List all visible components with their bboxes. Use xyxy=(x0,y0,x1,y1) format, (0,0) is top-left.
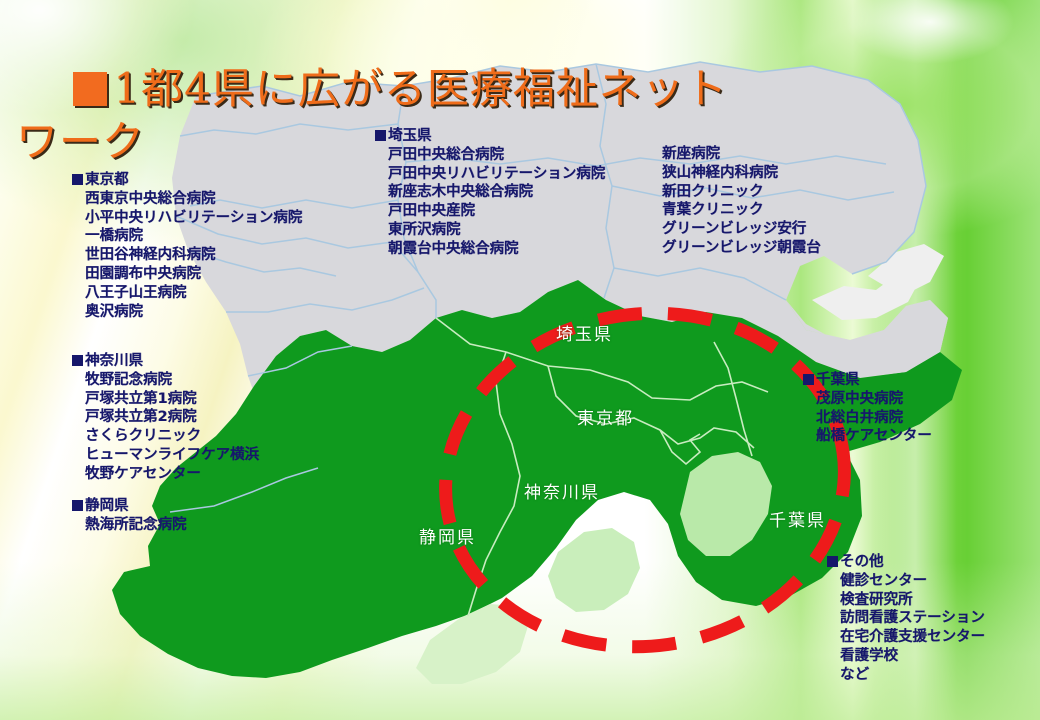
facility-list-other: その他健診センター検査研究所訪問看護ステーション在宅介護支援センター看護学校など xyxy=(827,553,985,685)
map-sagami-bay xyxy=(548,528,640,612)
list-item: 訪問看護ステーション xyxy=(840,609,985,628)
list-item: 牧野ケアセンター xyxy=(85,465,259,484)
list-item: 戸田中央総合病院 xyxy=(388,146,605,165)
list-item: 奥沢病院 xyxy=(85,303,302,322)
bullet-square-icon xyxy=(72,500,83,511)
list-item: 看護学校 xyxy=(840,647,985,666)
list-item: 小平中央リハビリテーション病院 xyxy=(85,209,302,228)
bullet-square-icon xyxy=(72,174,83,185)
list-item: など xyxy=(840,666,985,685)
title-text-line1: 1都4県に広がる医療福祉ネット xyxy=(113,64,727,113)
list-item: グリーンビレッジ安行 xyxy=(662,220,821,239)
list-item: ヒューマンライフケア横浜 xyxy=(85,446,259,465)
map-label-tokyo: 東京都 xyxy=(577,404,634,429)
list-item: 北総白井病院 xyxy=(816,409,932,428)
facility-list-saitama-column2: 新座病院狭山神経内科病院新田クリニック青葉クリニックグリーンビレッジ安行グリーン… xyxy=(662,145,821,258)
map-label-chiba: 千葉県 xyxy=(769,506,826,531)
list-heading-label: 埼玉県 xyxy=(388,128,432,144)
map-label-shizuoka: 静岡県 xyxy=(419,523,476,548)
list-item: 戸田中央リハビリテーション病院 xyxy=(388,165,605,184)
list-item: さくらクリニック xyxy=(85,427,259,446)
list-item: 西東京中央総合病院 xyxy=(85,190,302,209)
list-item: 東所沢病院 xyxy=(388,221,605,240)
list-item: 朝霞台中央総合病院 xyxy=(388,240,605,259)
bullet-square-icon xyxy=(72,355,83,366)
list-heading-label: 静岡県 xyxy=(85,498,129,514)
list-item: グリーンビレッジ朝霞台 xyxy=(662,239,821,258)
list-heading: 埼玉県 xyxy=(375,127,605,146)
map-label-saitama: 埼玉県 xyxy=(556,320,613,345)
list-item: 戸田中央産院 xyxy=(388,202,605,221)
bullet-square-icon xyxy=(375,130,386,141)
list-item: 健診センター xyxy=(840,572,985,591)
list-heading-label: その他 xyxy=(840,554,884,570)
facility-list-shizuoka: 静岡県熱海所記念病院 xyxy=(72,497,187,535)
list-item: 在宅介護支援センター xyxy=(840,628,985,647)
list-heading-label: 東京都 xyxy=(85,172,129,188)
bullet-square-icon xyxy=(827,556,838,567)
list-heading: その他 xyxy=(827,553,985,572)
list-item: 青葉クリニック xyxy=(662,201,821,220)
list-item: 八王子山王病院 xyxy=(85,284,302,303)
list-heading: 千葉県 xyxy=(803,371,932,390)
list-item: 一橋病院 xyxy=(85,227,302,246)
title-text-line2: ワーク xyxy=(16,117,145,166)
list-item: 茂原中央病院 xyxy=(816,390,932,409)
slide-canvas: 1都4県に広がる医療福祉ネットワーク 東京都西東京中央総合病院小平中央リハビリテ… xyxy=(0,0,1040,720)
list-item: 新座病院 xyxy=(662,145,821,164)
list-heading-label: 神奈川県 xyxy=(85,353,143,369)
list-heading: 東京都 xyxy=(72,171,302,190)
list-heading: 神奈川県 xyxy=(72,352,259,371)
list-item: 新田クリニック xyxy=(662,183,821,202)
map-label-kanagawa: 神奈川県 xyxy=(524,478,600,503)
list-item: 船橋ケアセンター xyxy=(816,427,932,446)
facility-list-saitama: 埼玉県戸田中央総合病院戸田中央リハビリテーション病院新座志木中央総合病院戸田中央… xyxy=(375,127,605,259)
facility-list-chiba: 千葉県茂原中央病院北総白井病院船橋ケアセンター xyxy=(803,371,932,446)
list-item: 狭山神経内科病院 xyxy=(662,164,821,183)
list-item: 戸塚共立第1病院 xyxy=(85,390,259,409)
title-bullet-square xyxy=(73,72,107,106)
list-item: 牧野記念病院 xyxy=(85,371,259,390)
list-item: 検査研究所 xyxy=(840,591,985,610)
list-item: 田園調布中央病院 xyxy=(85,265,302,284)
list-item: 戸塚共立第2病院 xyxy=(85,408,259,427)
list-item: 熱海所記念病院 xyxy=(85,516,187,535)
bullet-square-icon xyxy=(803,374,814,385)
list-item: 新座志木中央総合病院 xyxy=(388,183,605,202)
list-heading: 静岡県 xyxy=(72,497,187,516)
list-heading-label: 千葉県 xyxy=(816,372,860,388)
facility-list-tokyo: 東京都西東京中央総合病院小平中央リハビリテーション病院一橋病院世田谷神経内科病院… xyxy=(72,171,302,321)
list-item: 世田谷神経内科病院 xyxy=(85,246,302,265)
facility-list-kanagawa: 神奈川県牧野記念病院戸塚共立第1病院戸塚共立第2病院さくらクリニックヒューマンラ… xyxy=(72,352,259,484)
